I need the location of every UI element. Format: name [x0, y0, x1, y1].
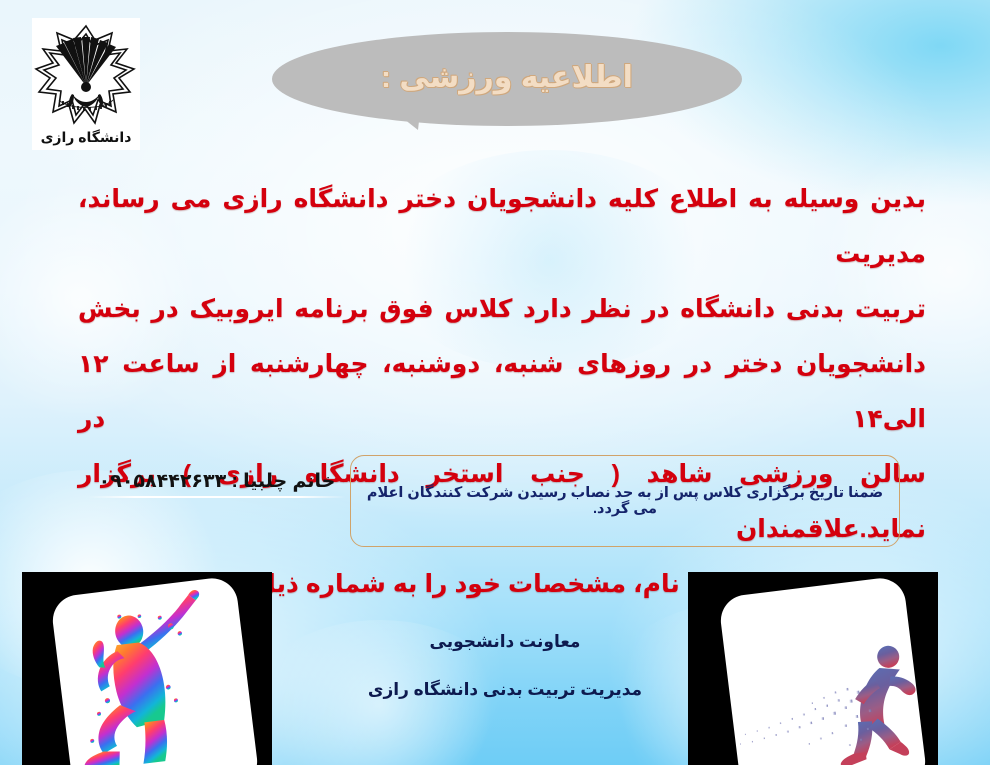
- note-box: ضمنا تاریخ برگزاری کلاس پس از به حد نصاب…: [350, 455, 900, 547]
- contact-phone-line[interactable]: خانم چلبیا : ۰۹۰۵۸۴۴۲۶۳۳: [88, 470, 346, 493]
- contact-block: خانم چلبیا : ۰۹۰۵۸۴۴۲۶۳۳: [88, 470, 346, 498]
- title-speech-bubble: اطلاعیه ورزشی :: [272, 32, 742, 130]
- splash-athlete-icon: [22, 572, 272, 765]
- signature-line-2: مدیریت تربیت بدنی دانشگاه رازی: [340, 666, 670, 714]
- contact-underline: [88, 496, 346, 498]
- announcement-poster: دانشگاه رازی اطلاعیه ورزشی : بدین وسیله …: [0, 0, 990, 765]
- body-line: تربیت بدنی دانشگاه در نظر دارد کلاس فوق …: [78, 282, 926, 337]
- page-title: اطلاعیه ورزشی :: [272, 60, 742, 95]
- body-line: بدین وسیله به اطلاع کلیه دانشجویان دختر …: [78, 172, 926, 282]
- photo-runner-particles: [688, 572, 938, 765]
- university-logo: دانشگاه رازی: [32, 18, 140, 150]
- signature-block: معاونت دانشجویی مدیریت تربیت بدنی دانشگا…: [340, 618, 670, 714]
- signature-line-1: معاونت دانشجویی: [340, 618, 670, 666]
- particle-runner-icon: [688, 572, 938, 765]
- photo-athlete-splash: [22, 572, 272, 765]
- logo-caption: دانشگاه رازی: [32, 129, 140, 146]
- note-text: ضمنا تاریخ برگزاری کلاس پس از به حد نصاب…: [351, 485, 899, 517]
- body-line: دانشجویان دختر در روزهای شنبه، دوشنبه، چ…: [78, 337, 926, 447]
